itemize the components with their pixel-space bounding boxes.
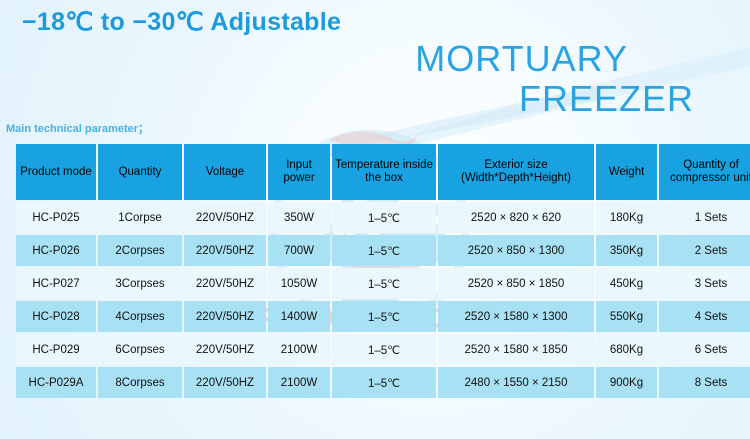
cell-exterior-size: 2520 × 820 × 620 <box>438 202 594 233</box>
cell-voltage: 220V/50HZ <box>184 367 266 398</box>
cell-weight: 180Kg <box>596 202 657 233</box>
table-row: HC-P029A8Corpses220V/50HZ2100W1–5℃2480 ×… <box>16 367 750 398</box>
cell-weight: 900Kg <box>596 367 657 398</box>
cell-product-mode: HC-P028 <box>16 301 96 332</box>
col-header-input-power: Input power <box>268 144 330 200</box>
table-header: Product mode Quantity Voltage Input powe… <box>16 144 750 200</box>
cell-product-mode: HC-P026 <box>16 235 96 266</box>
col-header-weight: Weight <box>596 144 657 200</box>
col-header-temperature: Temperature inside the box <box>332 144 436 200</box>
table-row: HC-P0262Corpses220V/50HZ700W1–5℃2520 × 8… <box>16 235 750 266</box>
cell-input-power: 700W <box>268 235 330 266</box>
cell-quantity: 4Corpses <box>98 301 182 332</box>
cell-compressor-unit: 3 Sets <box>659 268 750 299</box>
cell-weight: 450Kg <box>596 268 657 299</box>
cell-compressor-unit: 4 Sets <box>659 301 750 332</box>
cell-compressor-unit: 8 Sets <box>659 367 750 398</box>
cell-quantity: 3Corpses <box>98 268 182 299</box>
cell-voltage: 220V/50HZ <box>184 202 266 233</box>
cell-input-power: 1050W <box>268 268 330 299</box>
section-label-main-technical-parameter: Main technical parameter； <box>6 120 149 136</box>
cell-voltage: 220V/50HZ <box>184 334 266 365</box>
spec-table-wrapper: Product mode Quantity Voltage Input powe… <box>14 142 736 400</box>
cell-product-mode: HC-P027 <box>16 268 96 299</box>
table-header-row: Product mode Quantity Voltage Input powe… <box>16 144 750 200</box>
cell-temperature: 1–5℃ <box>332 301 436 332</box>
cell-compressor-unit: 2 Sets <box>659 235 750 266</box>
table-row: HC-P0284Corpses220V/50HZ1400W1–5℃2520 × … <box>16 301 750 332</box>
cell-quantity: 1Corpse <box>98 202 182 233</box>
cell-temperature: 1–5℃ <box>332 268 436 299</box>
col-header-quantity: Quantity <box>98 144 182 200</box>
table-body: HC-P0251Corpse220V/50HZ350W1–5℃2520 × 82… <box>16 202 750 398</box>
cell-temperature: 1–5℃ <box>332 202 436 233</box>
cell-quantity: 6Corpses <box>98 334 182 365</box>
page-title-freezer: FREEZER <box>0 78 694 120</box>
table-row: HC-P0273Corpses220V/50HZ1050W1–5℃2520 × … <box>16 268 750 299</box>
cell-input-power: 1400W <box>268 301 330 332</box>
cell-weight: 680Kg <box>596 334 657 365</box>
cell-quantity: 2Corpses <box>98 235 182 266</box>
cell-compressor-unit: 6 Sets <box>659 334 750 365</box>
cell-exterior-size: 2520 × 1580 × 1300 <box>438 301 594 332</box>
col-header-compressor-unit: Quantity of compressor unit <box>659 144 750 200</box>
cell-exterior-size: 2520 × 1580 × 1850 <box>438 334 594 365</box>
cell-weight: 550Kg <box>596 301 657 332</box>
product-spec-banner: HAPPYCAREMED −18℃ to −30℃ Adjustable MOR… <box>0 0 750 439</box>
cell-voltage: 220V/50HZ <box>184 235 266 266</box>
cell-input-power: 350W <box>268 202 330 233</box>
cell-temperature: 1–5℃ <box>332 367 436 398</box>
cell-input-power: 2100W <box>268 334 330 365</box>
cell-temperature: 1–5℃ <box>332 334 436 365</box>
cell-exterior-size: 2520 × 850 × 1300 <box>438 235 594 266</box>
cell-input-power: 2100W <box>268 367 330 398</box>
cell-voltage: 220V/50HZ <box>184 268 266 299</box>
table-row: HC-P0251Corpse220V/50HZ350W1–5℃2520 × 82… <box>16 202 750 233</box>
col-header-exterior-size: Exterior size (Width*Depth*Height) <box>438 144 594 200</box>
table-row: HC-P0296Corpses220V/50HZ2100W1–5℃2520 × … <box>16 334 750 365</box>
cell-compressor-unit: 1 Sets <box>659 202 750 233</box>
cell-temperature: 1–5℃ <box>332 235 436 266</box>
col-header-product-mode: Product mode <box>16 144 96 200</box>
cell-exterior-size: 2480 × 1550 × 2150 <box>438 367 594 398</box>
cell-voltage: 220V/50HZ <box>184 301 266 332</box>
cell-quantity: 8Corpses <box>98 367 182 398</box>
col-header-voltage: Voltage <box>184 144 266 200</box>
page-title-temperature-range: −18℃ to −30℃ Adjustable <box>22 7 341 37</box>
cell-product-mode: HC-P029 <box>16 334 96 365</box>
cell-product-mode: HC-P025 <box>16 202 96 233</box>
cell-exterior-size: 2520 × 850 × 1850 <box>438 268 594 299</box>
cell-weight: 350Kg <box>596 235 657 266</box>
technical-parameter-table: Product mode Quantity Voltage Input powe… <box>14 142 750 400</box>
page-title-mortuary: MORTUARY <box>0 38 628 80</box>
cell-product-mode: HC-P029A <box>16 367 96 398</box>
